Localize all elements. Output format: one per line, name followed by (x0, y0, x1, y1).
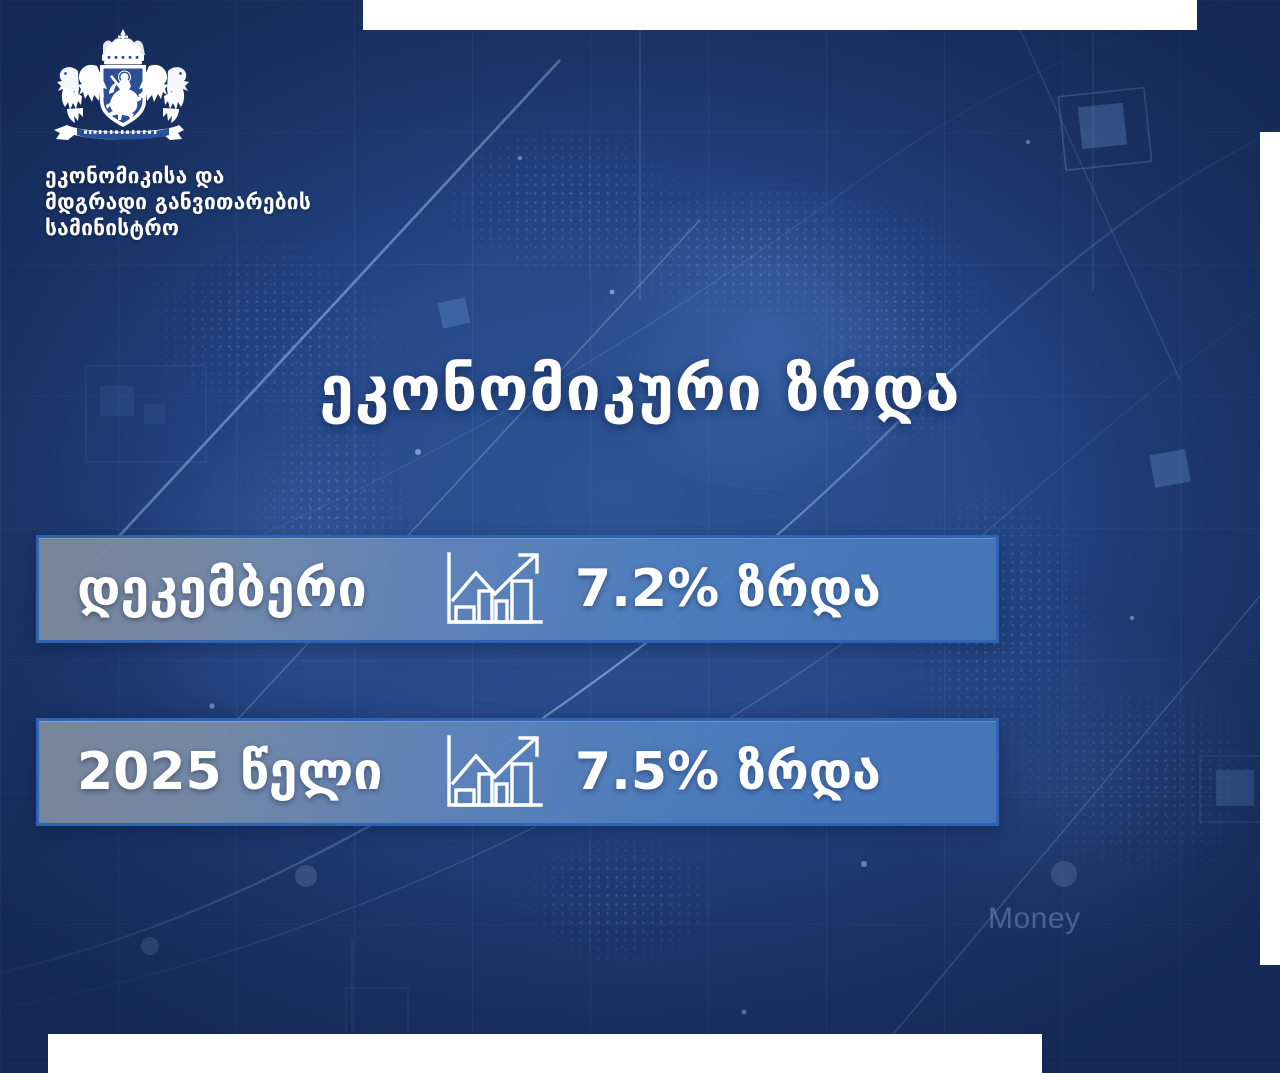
georgian-coat-of-arms-icon (47, 25, 199, 150)
stat-value: 7.2% ზრდა (551, 563, 881, 615)
growth-chart-icon (439, 548, 551, 630)
frame-right-bar (1260, 132, 1280, 965)
ministry-line-3: სამინისტრო (45, 216, 405, 242)
ministry-line-2: მდგრადი განვითარების (45, 190, 405, 216)
ministry-line-1: ეკონომიკისა და (45, 164, 405, 190)
frame-bottom-bar (48, 1034, 1042, 1073)
stat-label: დეკემბერი (39, 563, 439, 615)
frame-top-bar (363, 0, 1197, 30)
money-watermark-text: Money (988, 902, 1081, 936)
brand-header: ეკონომიკისა და მდგრადი განვითარების სამი… (45, 25, 405, 241)
stat-value: 7.5% ზრდა (551, 746, 881, 798)
page-title: ეკონომიკური ზრდა (0, 358, 1280, 420)
growth-chart-icon (439, 731, 551, 813)
stat-row-year-2025: 2025 წელი 7.5% ზრდა (36, 718, 999, 826)
stat-label: 2025 წელი (39, 746, 439, 798)
infographic-poster: Money (0, 0, 1280, 1073)
ministry-name: ეკონომიკისა და მდგრადი განვითარების სამი… (45, 164, 405, 241)
stat-row-december: დეკემბერი (36, 535, 999, 643)
